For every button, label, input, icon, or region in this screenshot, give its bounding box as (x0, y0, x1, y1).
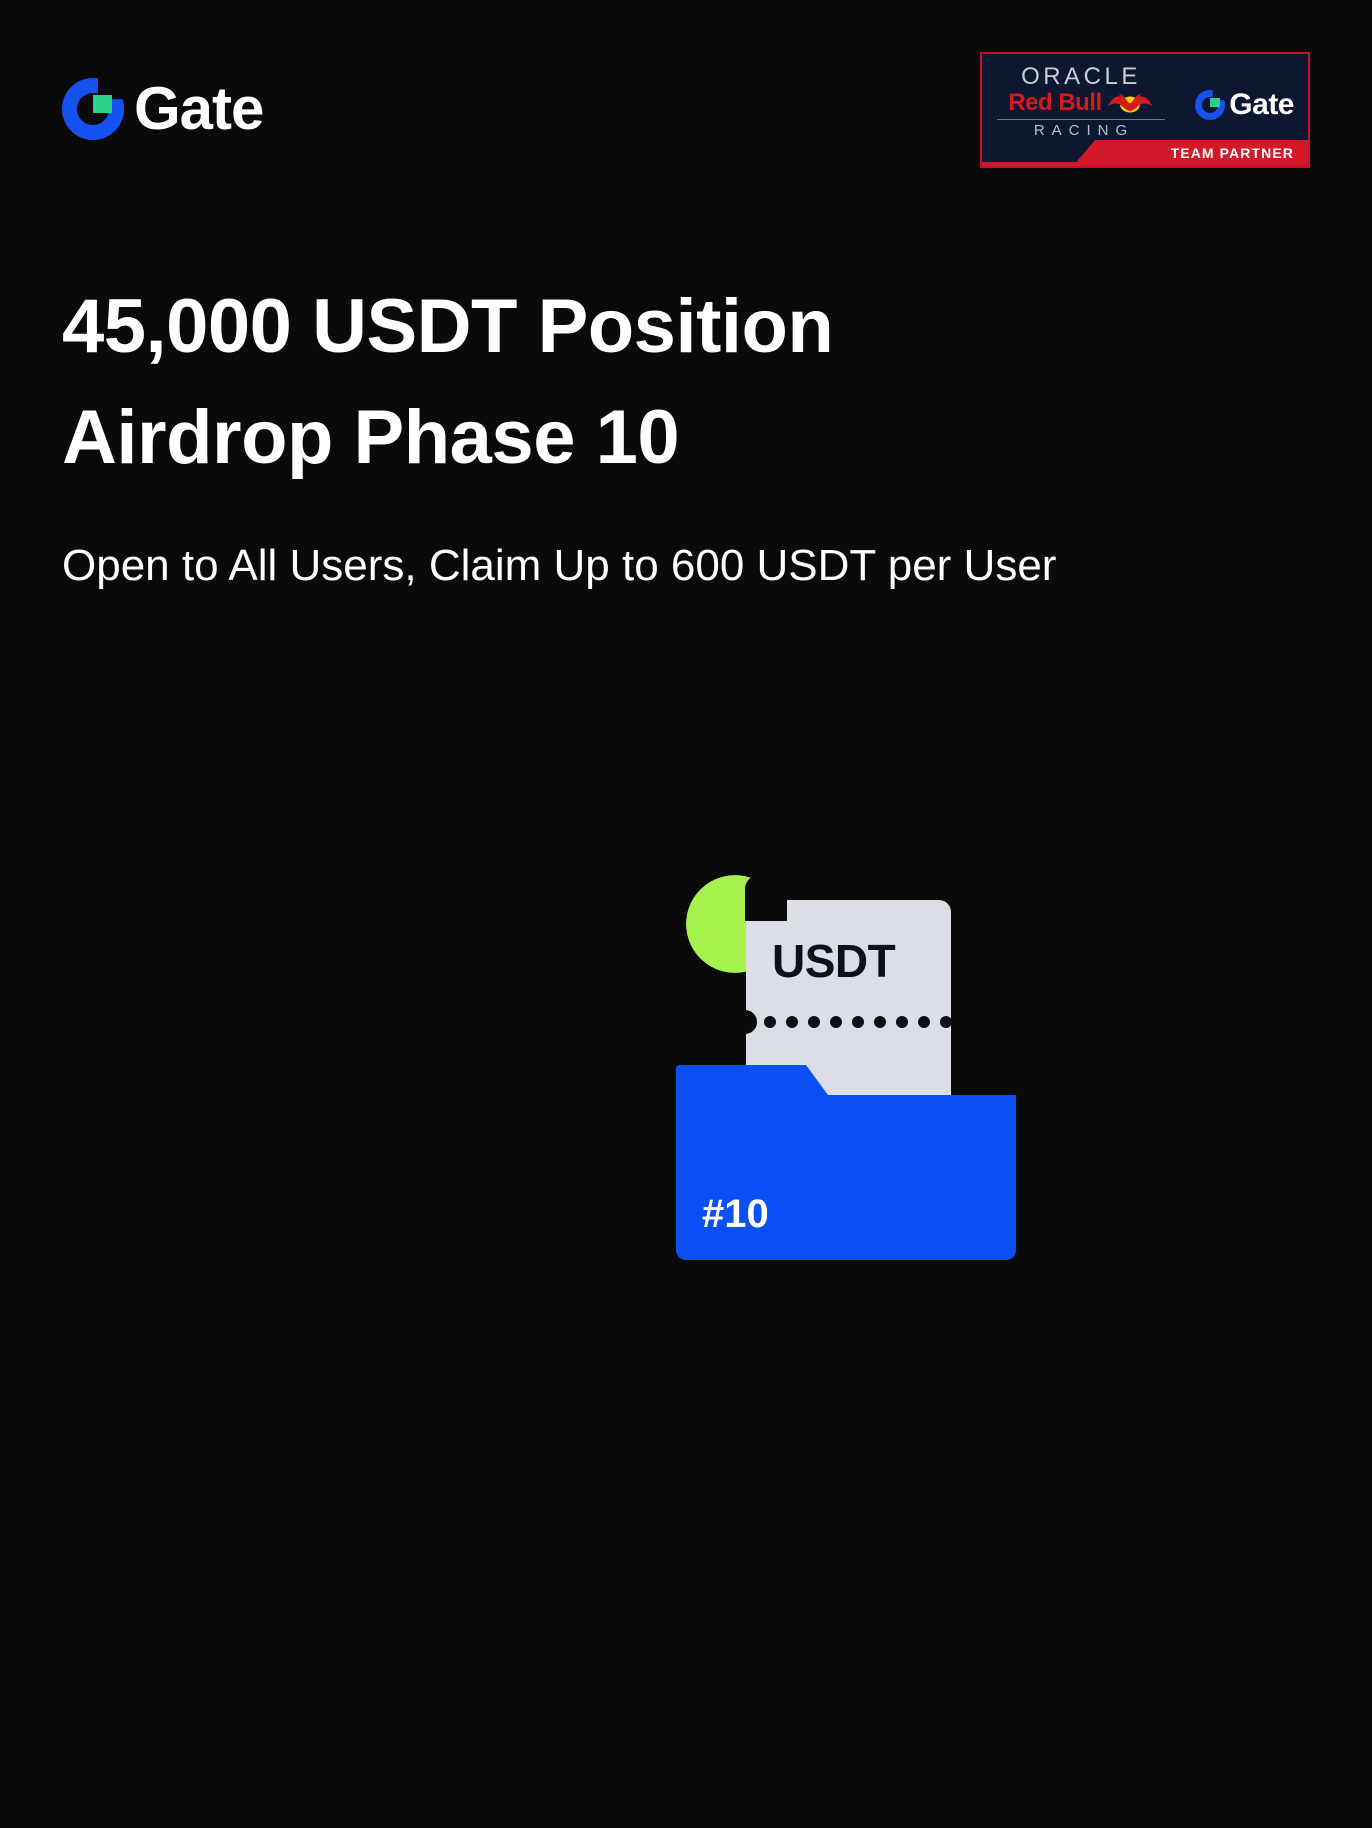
page-title: 45,000 USDT Position Airdrop Phase 10 (62, 272, 962, 494)
gate-wordmark: Gate (134, 79, 263, 139)
red-bull-wordmark: Red Bull (1008, 90, 1101, 116)
badge-divider (997, 119, 1165, 120)
perforation-dot (830, 1016, 842, 1028)
team-partner-label: TEAM PARTNER (1171, 145, 1294, 161)
badge-bottom-accent-bar (982, 162, 1308, 166)
oracle-wordmark: ORACLE (1021, 64, 1141, 89)
perforation-dot (808, 1016, 820, 1028)
gate-square-shape-small (1210, 98, 1219, 107)
circle-corner-cutout (745, 875, 787, 921)
perforation-dot (918, 1016, 930, 1028)
badge-gate-logo: Gate (1195, 88, 1294, 122)
gate-logo-icon-small (1195, 90, 1225, 120)
page-subtitle: Open to All Users, Claim Up to 600 USDT … (62, 530, 1072, 601)
perforation-dot (940, 1016, 952, 1028)
red-bull-racing-lockup: ORACLE Red Bull RACING (996, 64, 1166, 140)
red-bull-icon (1106, 92, 1154, 114)
hero-copy: 45,000 USDT Position Airdrop Phase 10 Op… (62, 272, 1122, 601)
badge-gate-wordmark: Gate (1229, 88, 1294, 122)
voucher-token-label: USDT (772, 938, 895, 984)
folder-phase-tag: #10 (702, 1194, 769, 1234)
racing-wordmark: RACING (1028, 121, 1134, 141)
airdrop-illustration: USDT #10 (676, 870, 1021, 1270)
red-bull-row: Red Bull (1008, 90, 1153, 116)
perforation-dot (786, 1016, 798, 1028)
page-header: Gate ORACLE Red Bull RACING Gate (0, 0, 1372, 200)
gate-logo-icon (62, 78, 124, 140)
perforation-dot (874, 1016, 886, 1028)
gate-square-shape (93, 95, 112, 114)
voucher-perforation-line (764, 1016, 941, 1028)
perforation-dot (852, 1016, 864, 1028)
gate-brand-logo[interactable]: Gate (62, 78, 263, 140)
perforation-dot (764, 1016, 776, 1028)
voucher-left-notch (735, 1010, 757, 1034)
perforation-dot (896, 1016, 908, 1028)
phase-folder: #10 (676, 1065, 1016, 1260)
oracle-red-bull-racing-team-partner-badge: ORACLE Red Bull RACING Gate TEAM PART (980, 52, 1310, 168)
